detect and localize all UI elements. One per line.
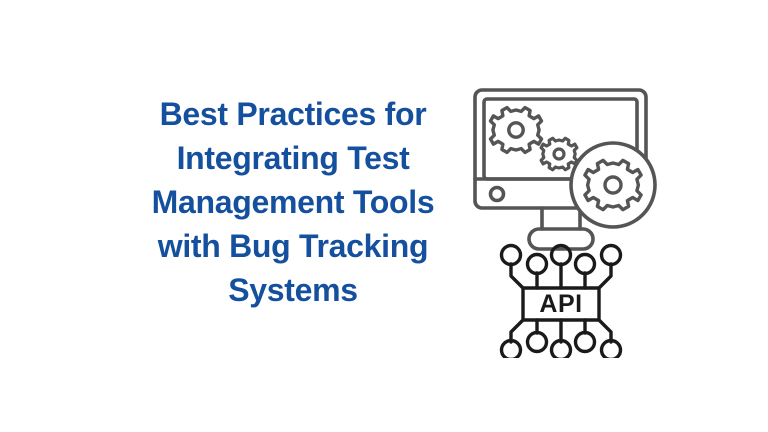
chip-trace-top-outer-right [599, 264, 611, 288]
heading-line-3: Management Tools [112, 180, 474, 224]
chip-node-top-4 [576, 255, 595, 274]
monitor-stand-neck [542, 208, 580, 229]
chip-trace-top-outer-left [511, 264, 523, 288]
monitor-power-led-icon [491, 188, 504, 201]
poster-canvas: Best Practices for Integrating Test Mana… [0, 0, 768, 432]
chip-node-top-1 [502, 246, 521, 265]
chip-trace-bottom-outer-right [599, 320, 611, 342]
chip-node-bottom-2 [528, 333, 547, 352]
settings-gear-circle-icon [571, 143, 655, 227]
page-title: Best Practices for Integrating Test Mana… [112, 92, 474, 312]
chip-node-bottom-4 [576, 333, 595, 352]
chip-node-top-5 [602, 246, 621, 265]
chip-label: API [539, 290, 582, 318]
screen-gear-small-icon [541, 138, 577, 169]
heading-line-1: Best Practices for [112, 92, 474, 136]
chip-trace-bottom-outer-left [511, 320, 523, 342]
test-management-integration-illustration: API [466, 78, 658, 358]
screen-gear-large-icon [491, 108, 542, 153]
heading-line-5: Systems [112, 268, 474, 312]
chip-node-top-2 [528, 255, 547, 274]
heading-line-4: with Bug Tracking [112, 224, 474, 268]
heading-line-2: Integrating Test [112, 136, 474, 180]
